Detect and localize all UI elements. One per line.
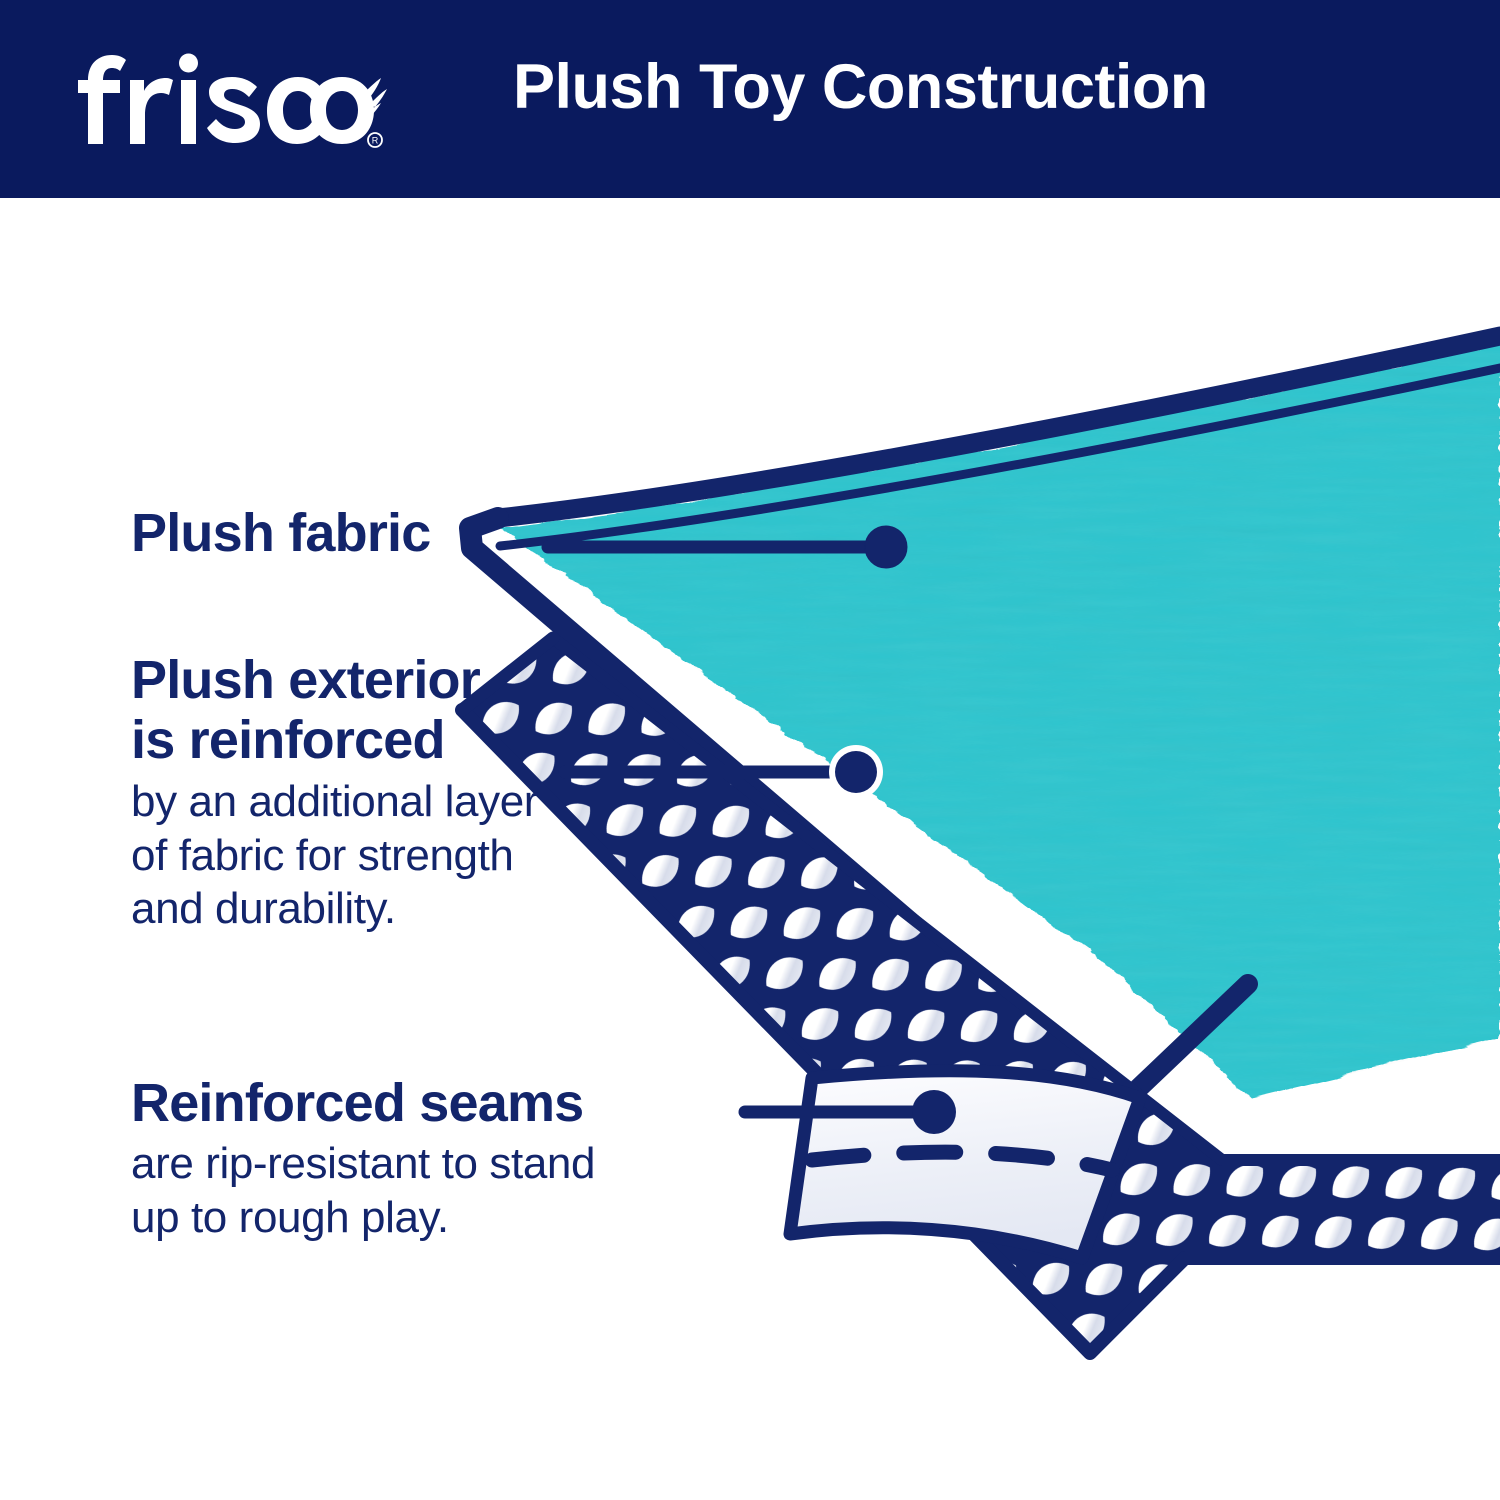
leader-dot-plush-exterior bbox=[835, 751, 877, 793]
callout-reinforced-seams: Reinforced seams are rip-resistant to st… bbox=[131, 1073, 595, 1245]
callout-reinforced-seams-body: are rip-resistant to stand up to rough p… bbox=[131, 1137, 595, 1244]
callout-plush-exterior-body: by an additional layer of fabric for str… bbox=[131, 775, 538, 936]
callout-plush-fabric-headline: Plush fabric bbox=[131, 503, 430, 563]
callout-plush-exterior: Plush exterior is reinforced by an addit… bbox=[131, 650, 538, 936]
callout-plush-exterior-headline: Plush exterior is reinforced bbox=[131, 650, 538, 771]
svg-text:R: R bbox=[372, 136, 379, 146]
infographic-page: R Plush Toy Construction bbox=[0, 0, 1500, 1500]
frisco-logo: R bbox=[78, 52, 388, 152]
page-title: Plush Toy Construction bbox=[513, 54, 1208, 120]
leader-dot-plush-fabric bbox=[865, 526, 907, 568]
leader-dot-reinforced-seams bbox=[912, 1090, 956, 1134]
callout-plush-fabric: Plush fabric bbox=[131, 503, 430, 563]
callout-reinforced-seams-headline: Reinforced seams bbox=[131, 1073, 595, 1133]
header-band: R Plush Toy Construction bbox=[0, 0, 1500, 198]
reinforced-seam-flap bbox=[790, 1071, 1140, 1258]
